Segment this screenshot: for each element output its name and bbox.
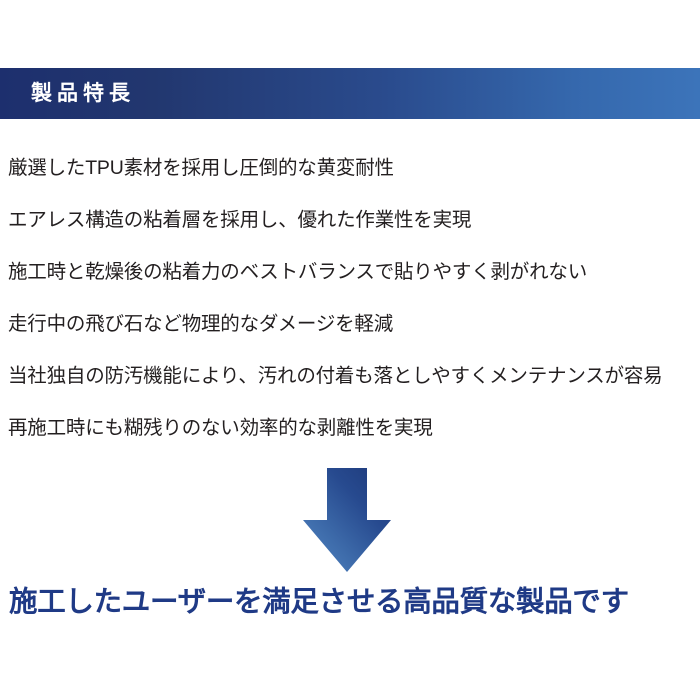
section-header-bar: 製品特長 <box>0 68 700 119</box>
feature-text: 再施工時にも糊残りのない効率的な剥離性を実現 <box>8 417 433 440</box>
list-item: エアレス構造の粘着層を採用し、優れた作業性を実現 <box>0 195 700 247</box>
conclusion-banner: 施工したユーザーを満足させる高品質な製品です <box>0 578 700 626</box>
product-features-page: 製品特長 厳選したTPU素材を採用し圧倒的な黄変耐性 エアレス構造の粘着層を採用… <box>0 0 700 700</box>
list-item: 再施工時にも糊残りのない効率的な剥離性を実現 <box>0 403 700 455</box>
feature-text: エアレス構造の粘着層を採用し、優れた作業性を実現 <box>8 209 471 232</box>
feature-text: 当社独自の防汚機能により、汚れの付着も落としやすくメンテナンスが容易 <box>8 365 662 388</box>
feature-text: 施工時と乾燥後の粘着力のベストバランスで貼りやすく剥がれない <box>8 261 587 284</box>
conclusion-text: 施工したユーザーを満足させる高品質な製品です <box>9 586 629 619</box>
list-item: 当社独自の防汚機能により、汚れの付着も落としやすくメンテナンスが容易 <box>0 351 700 403</box>
feature-list: 厳選したTPU素材を採用し圧倒的な黄変耐性 エアレス構造の粘着層を採用し、優れた… <box>0 143 700 455</box>
feature-text: 厳選したTPU素材を採用し圧倒的な黄変耐性 <box>8 157 394 180</box>
list-item: 施工時と乾燥後の粘着力のベストバランスで貼りやすく剥がれない <box>0 247 700 299</box>
list-item: 走行中の飛び石など物理的なダメージを軽減 <box>0 299 700 351</box>
list-item: 厳選したTPU素材を採用し圧倒的な黄変耐性 <box>0 143 700 195</box>
feature-text: 走行中の飛び石など物理的なダメージを軽減 <box>8 313 393 336</box>
arrow-down-icon <box>303 468 391 572</box>
page-title: 製品特長 <box>0 83 135 104</box>
